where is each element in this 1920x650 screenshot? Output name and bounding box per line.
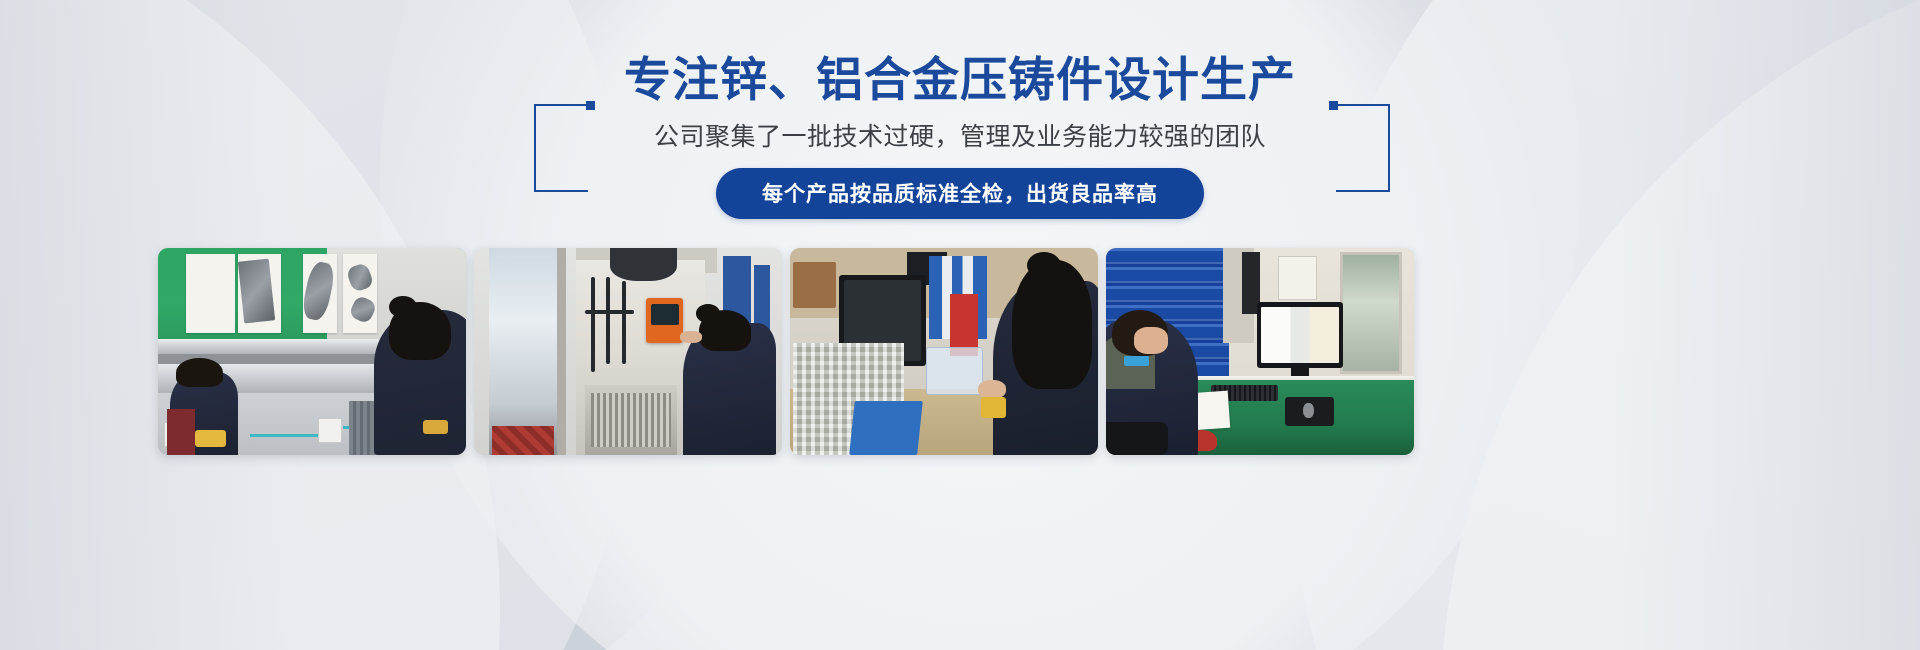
page-subtitle: 公司聚集了一批技术过硬，管理及业务能力较强的团队 xyxy=(0,121,1920,154)
photo-engineering-workstation xyxy=(1106,248,1414,455)
photo-inspection-bench xyxy=(158,248,466,455)
status-badge: 每个产品按品质标准全检，出货良品率高 xyxy=(716,168,1204,219)
page-title: 专注锌、铝合金压铸件设计生产 xyxy=(0,52,1920,107)
gallery-photo-4[interactable] xyxy=(1106,248,1414,455)
badge-row: 每个产品按品质标准全检，出货良品率高 xyxy=(0,168,1920,219)
gallery-photo-1[interactable] xyxy=(158,248,466,455)
banner-text-block: 专注锌、铝合金压铸件设计生产 公司聚集了一批技术过硬，管理及业务能力较强的团队 xyxy=(0,52,1920,154)
photo-die-casting-machine xyxy=(474,248,782,455)
photo-gallery xyxy=(158,248,1762,455)
photo-quality-inspection xyxy=(790,248,1098,455)
gallery-photo-3[interactable] xyxy=(790,248,1098,455)
gallery-photo-2[interactable] xyxy=(474,248,782,455)
banner-stage: 专注锌、铝合金压铸件设计生产 公司聚集了一批技术过硬，管理及业务能力较强的团队 … xyxy=(0,0,1920,650)
